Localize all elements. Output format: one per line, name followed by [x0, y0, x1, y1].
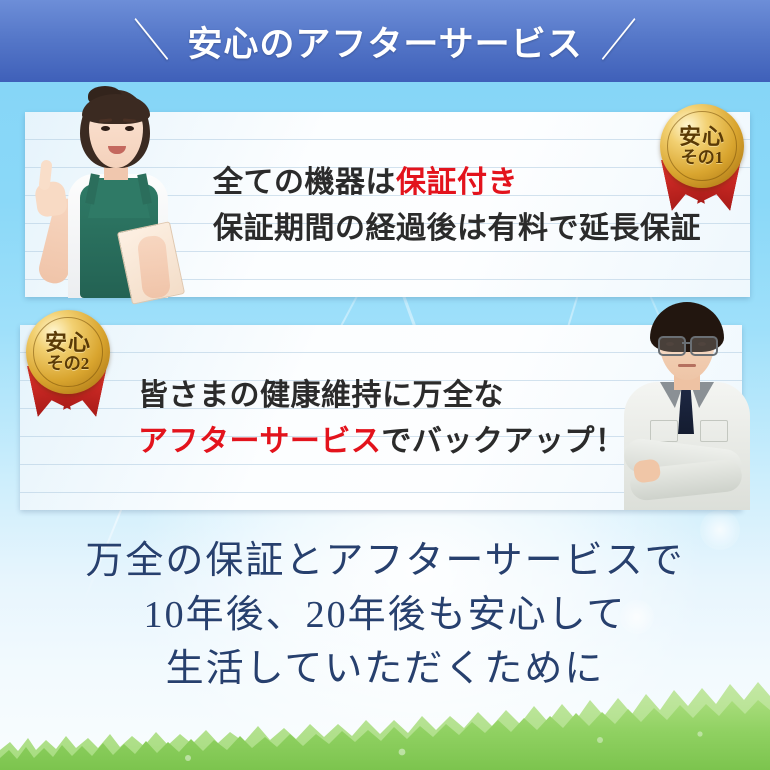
slash-left-icon: ＼	[133, 19, 169, 64]
badge-2-bottom-label: その2	[47, 355, 90, 372]
woman-eye	[125, 126, 134, 131]
assurance-card-2-text: 皆さまの健康維持に万全な アフターサービスでバックアップ！	[138, 373, 625, 464]
woman-fringe	[82, 94, 150, 124]
grass-illustration	[0, 678, 770, 770]
assurance-badge-1: 安心 その1	[650, 102, 754, 214]
closing-line-1: 万全の保証とアフターサービスで	[0, 535, 770, 589]
glasses-icon	[690, 336, 718, 356]
gold-medal-icon: 安心 その1	[660, 104, 744, 188]
closing-line-2: 10年後、20年後も安心して	[0, 589, 770, 643]
badge-1-top-label: 安心	[679, 126, 725, 148]
line1-highlight-text: 保証付き	[396, 166, 518, 199]
woman-eye	[101, 126, 110, 131]
glasses-bridge	[682, 342, 690, 344]
line2-plain-text: でバックアップ！	[381, 425, 625, 458]
line2-highlight-text: アフターサービス	[138, 425, 381, 458]
closing-message: 万全の保証とアフターサービスで 10年後、20年後も安心して 生活していただくた…	[0, 535, 770, 697]
assurance-card-1-line2: 保証期間の経過後は有料で延長保証	[213, 206, 701, 252]
staff-woman-photo	[28, 86, 196, 298]
medal-inner-ring: 安心 その2	[33, 317, 103, 387]
gold-medal-icon: 安心 その2	[26, 310, 110, 394]
banner-header: ＼ 安心のアフターサービス ／	[0, 0, 770, 82]
assurance-card-2-line1: 皆さまの健康維持に万全な	[138, 373, 625, 419]
man-jacket-pocket	[700, 420, 728, 442]
assurance-badge-2: 安心 その2	[16, 308, 120, 420]
badge-2-top-label: 安心	[45, 332, 91, 354]
assurance-card-1-line1: 全ての機器は保証付き	[213, 160, 701, 206]
slash-right-icon: ／	[601, 19, 637, 64]
glasses-icon	[658, 336, 686, 356]
line1-plain-text: 全ての機器は	[213, 166, 396, 199]
man-mouth	[678, 364, 696, 367]
man-jacket-pocket	[650, 420, 678, 442]
after-service-banner: ＼ 安心のアフターサービス ／ 全ての機器は保証付き 保証期間の経過後は有料で延…	[0, 0, 770, 770]
assurance-card-2-line2: アフターサービスでバックアップ！	[138, 419, 625, 465]
badge-1-bottom-label: その1	[681, 149, 724, 166]
header-title: 安心のアフターサービス	[187, 16, 582, 67]
assurance-card-1-text: 全ての機器は保証付き 保証期間の経過後は有料で延長保証	[213, 160, 701, 251]
medal-inner-ring: 安心 その1	[667, 111, 737, 181]
staff-man-photo	[608, 298, 766, 510]
